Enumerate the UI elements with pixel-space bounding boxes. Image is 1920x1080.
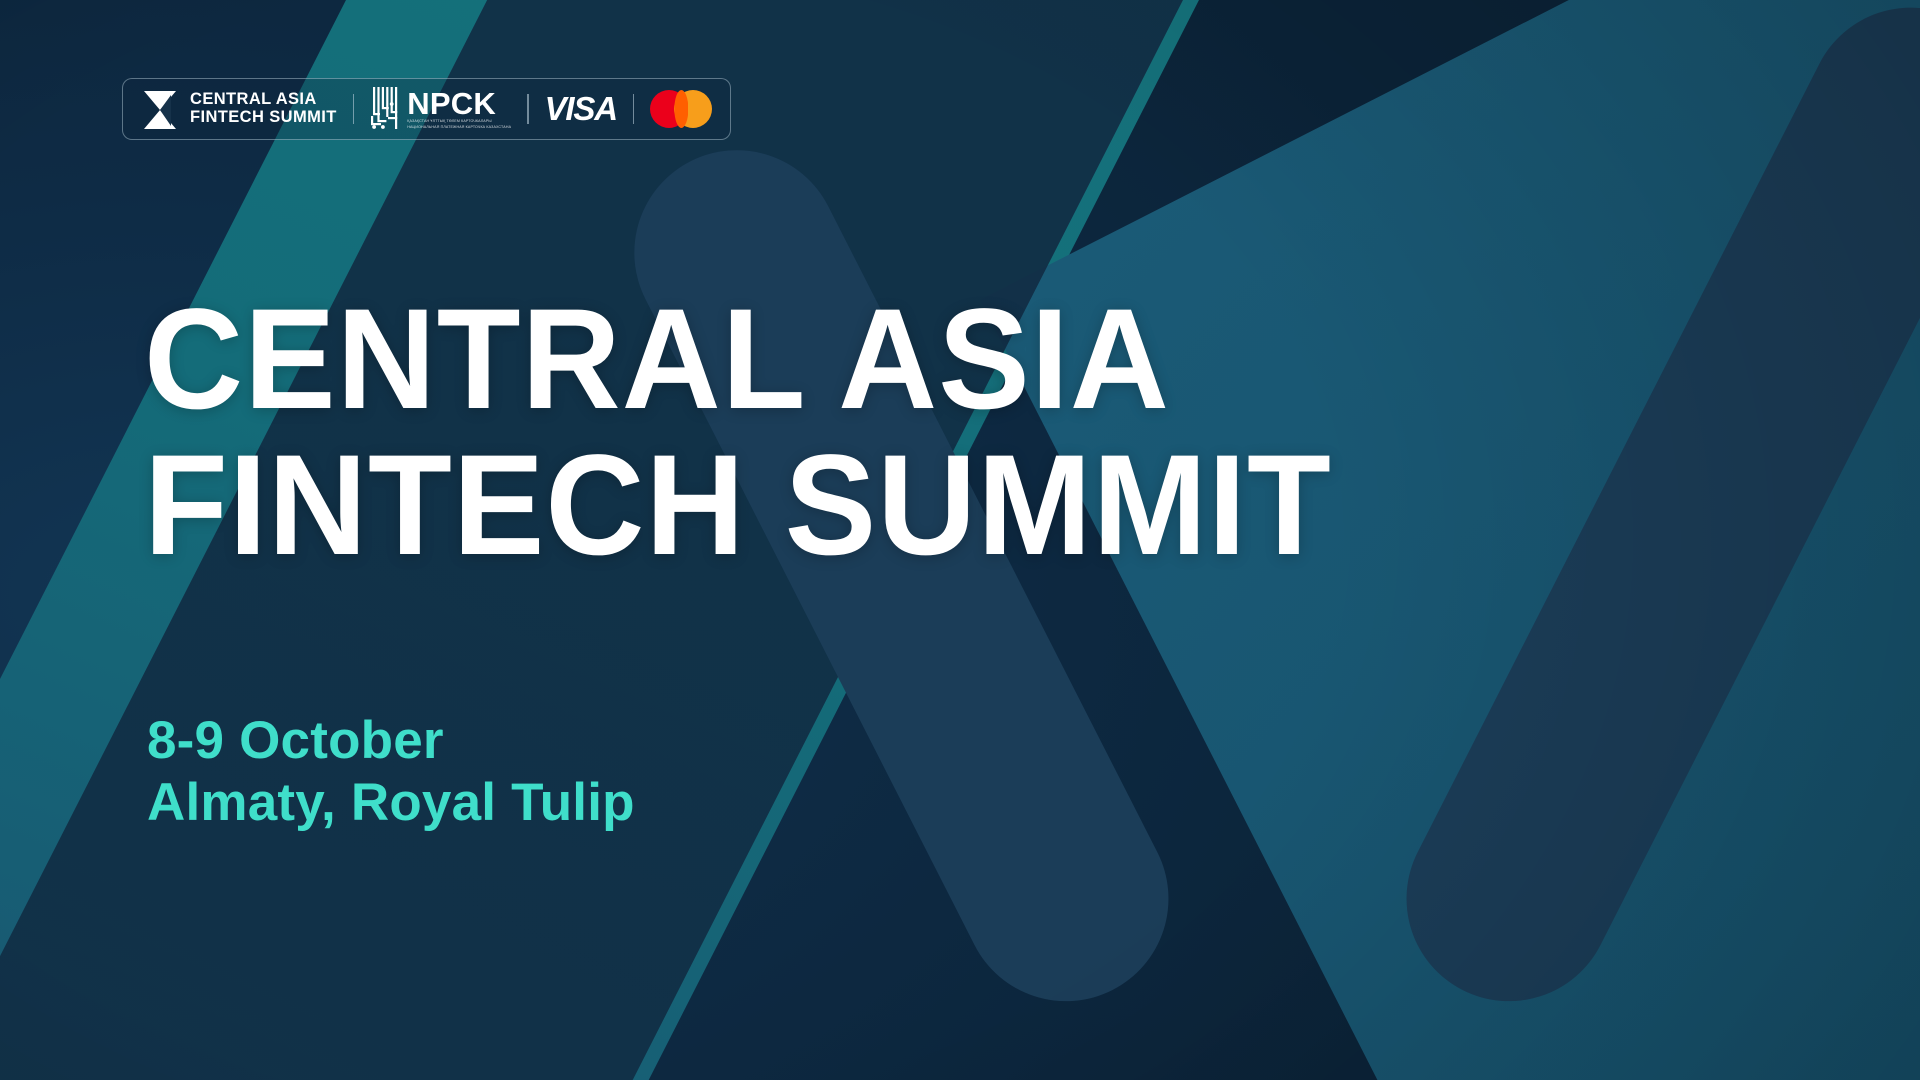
npck-logo-lockup: NPCK ҚАЗАҚСТАН ҰЛТТЫҚ ТӨЛЕМ КАРТОЧКАЛАРЫ… [370, 79, 511, 139]
logo-divider-3 [633, 94, 635, 124]
page-title: CENTRAL ASIA FINTECH SUMMIT [144, 287, 1381, 579]
logo-divider-2 [527, 94, 529, 124]
npck-subtitle-line-1: ҚАЗАҚСТАН ҰЛТТЫҚ ТӨЛЕМ КАРТОЧКАЛАРЫ [407, 119, 511, 123]
summit-logo-line-1: CENTRAL ASIA [190, 91, 337, 109]
npck-name: NPCK [407, 89, 511, 118]
partner-logo-bar: CENTRAL ASIA FINTECH SUMMIT [122, 78, 731, 140]
summit-logo-line-2: FINTECH SUMMIT [190, 109, 337, 127]
event-venue: Almaty, Royal Tulip [147, 772, 635, 834]
npck-circuit-icon [370, 87, 400, 131]
mastercard-logo [650, 79, 712, 139]
summit-logo-lockup: CENTRAL ASIA FINTECH SUMMIT [141, 79, 337, 139]
mastercard-overlap [674, 90, 688, 128]
summit-logo-wordmark: CENTRAL ASIA FINTECH SUMMIT [190, 91, 337, 127]
summit-title-slide: CENTRAL ASIA FINTECH SUMMIT [0, 0, 1920, 1080]
event-dates: 8-9 October [147, 710, 635, 772]
visa-wordmark: VISA [545, 90, 617, 128]
visa-logo: VISA [545, 79, 617, 139]
logo-divider-1 [353, 94, 355, 124]
event-details: 8-9 October Almaty, Royal Tulip [147, 710, 635, 834]
headline-line-1: CENTRAL ASIA [144, 287, 1332, 433]
headline-line-2: FINTECH SUMMIT [144, 433, 1332, 579]
npck-subtitle-line-2: НАЦИОНАЛЬНАЯ ПЛАТЕЖНАЯ КАРТОЧКА КАЗАХСТА… [407, 125, 511, 129]
npck-wordmark: NPCK ҚАЗАҚСТАН ҰЛТТЫҚ ТӨЛЕМ КАРТОЧКАЛАРЫ… [407, 89, 511, 129]
mastercard-circles-icon [650, 90, 712, 128]
hourglass-icon [141, 88, 179, 130]
